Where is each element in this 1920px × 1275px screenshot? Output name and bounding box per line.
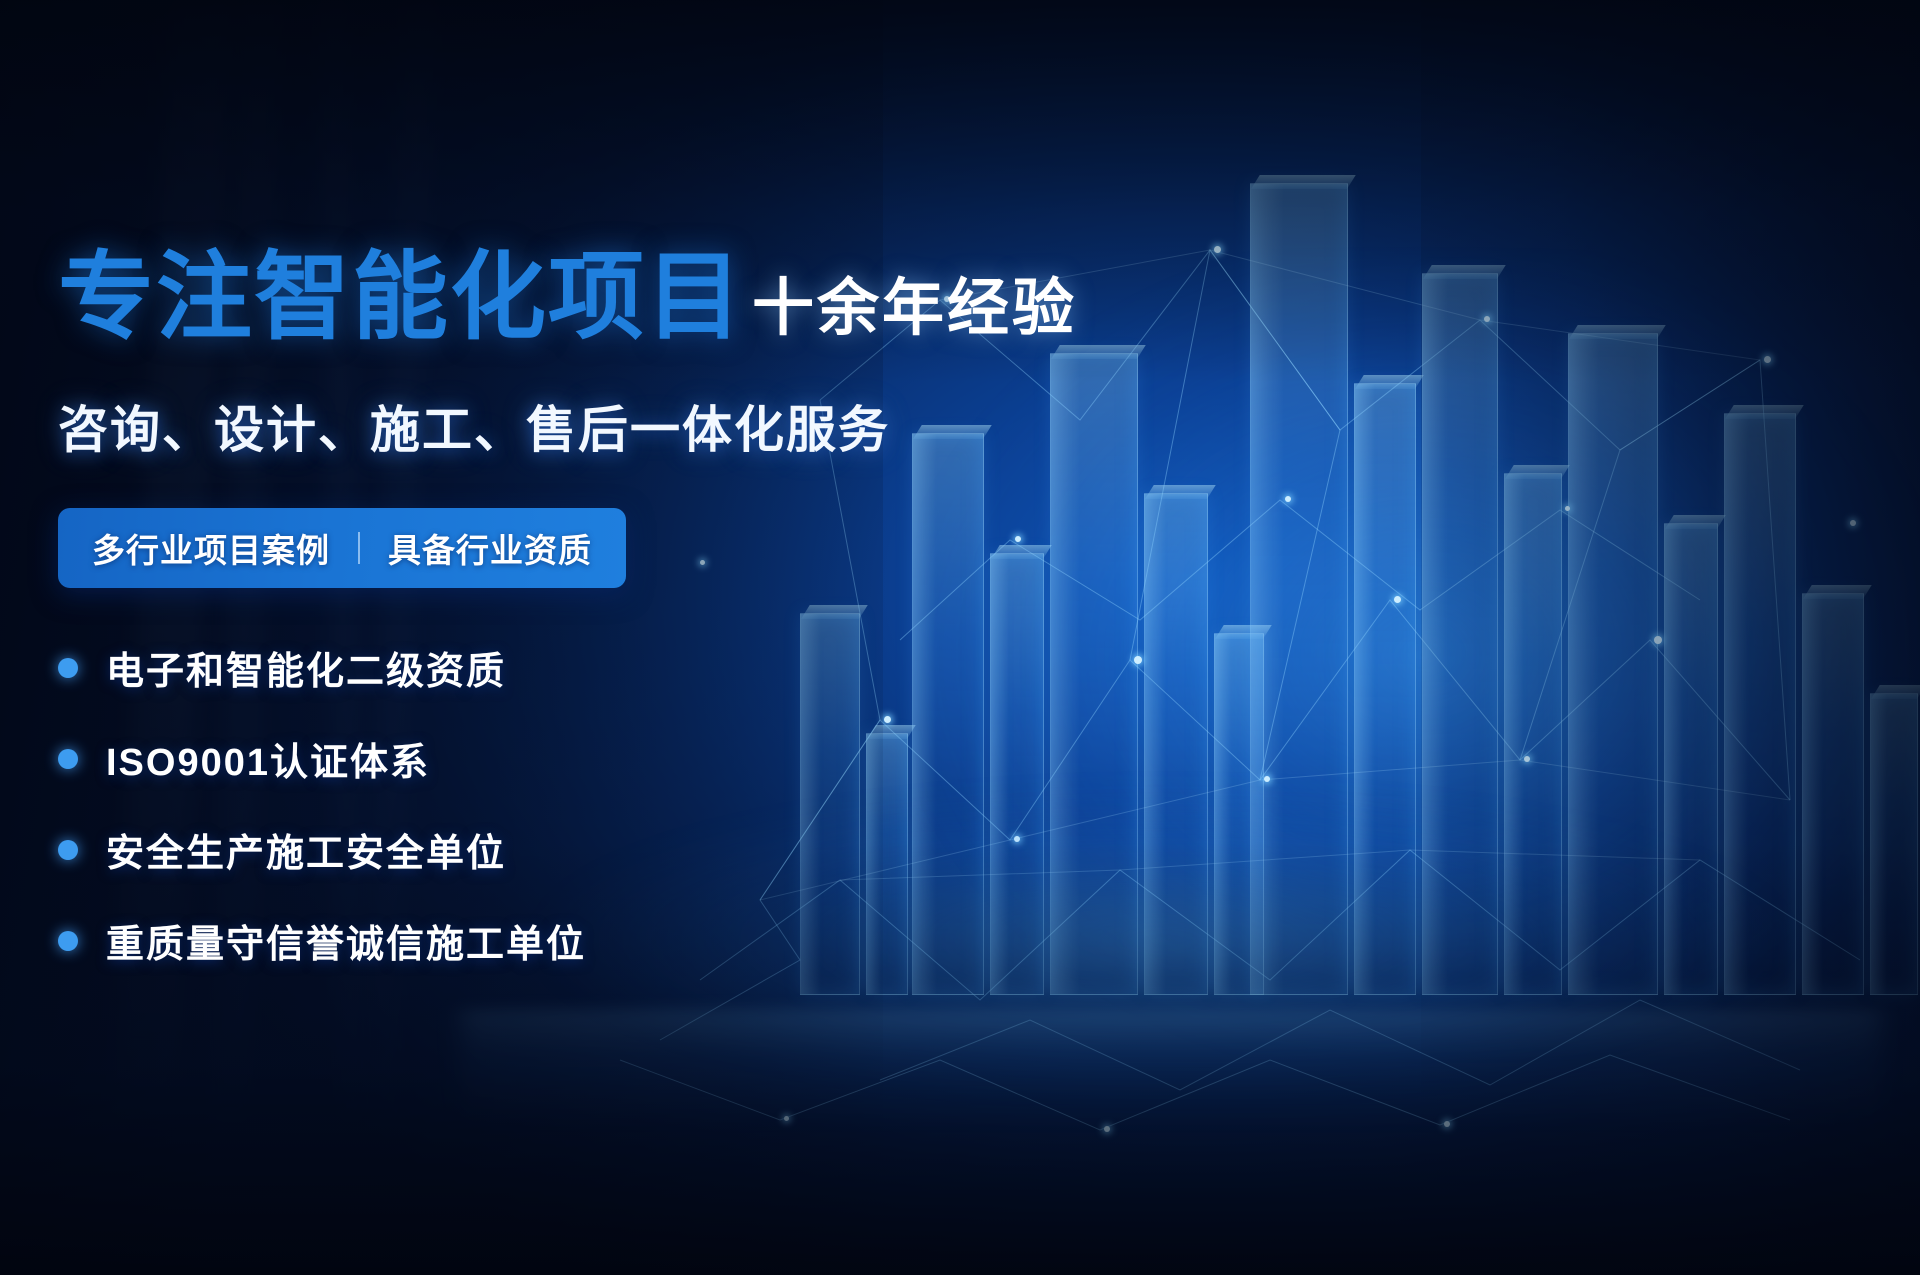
subtitle-text: 咨询、设计、施工、售后一体化服务	[58, 390, 1038, 462]
list-item: 重质量守信誉诚信施工单位	[58, 913, 1038, 968]
list-item-label: ISO9001认证体系	[106, 731, 430, 786]
list-item: 电子和智能化二级资质	[58, 640, 1038, 695]
badge-label-left: 多行业项目案例	[92, 524, 330, 572]
highlight-badge[interactable]: 多行业项目案例 具备行业资质	[58, 508, 626, 588]
list-item-label: 安全生产施工安全单位	[106, 822, 506, 877]
bullet-dot-icon	[58, 840, 78, 860]
bullet-dot-icon	[58, 658, 78, 678]
list-item: 安全生产施工安全单位	[58, 822, 1038, 877]
qualification-list: 电子和智能化二级资质 ISO9001认证体系 安全生产施工安全单位 重质量守信誉…	[58, 640, 1038, 968]
hero-banner: 专注智能化项目 十余年经验 咨询、设计、施工、售后一体化服务 多行业项目案例 具…	[0, 0, 1920, 1275]
headline-sub-text: 十余年经验	[752, 278, 1077, 346]
badge-divider-icon	[358, 532, 360, 564]
badge-label-right: 具备行业资质	[388, 524, 592, 572]
list-item: ISO9001认证体系	[58, 731, 1038, 786]
bullet-dot-icon	[58, 931, 78, 951]
headline-main-text: 专注智能化项目	[58, 250, 744, 346]
page-title: 专注智能化项目 十余年经验	[58, 250, 1038, 346]
list-item-label: 重质量守信誉诚信施工单位	[106, 913, 586, 968]
banner-content: 专注智能化项目 十余年经验 咨询、设计、施工、售后一体化服务 多行业项目案例 具…	[58, 250, 1038, 1004]
bullet-dot-icon	[58, 749, 78, 769]
list-item-label: 电子和智能化二级资质	[106, 640, 506, 695]
